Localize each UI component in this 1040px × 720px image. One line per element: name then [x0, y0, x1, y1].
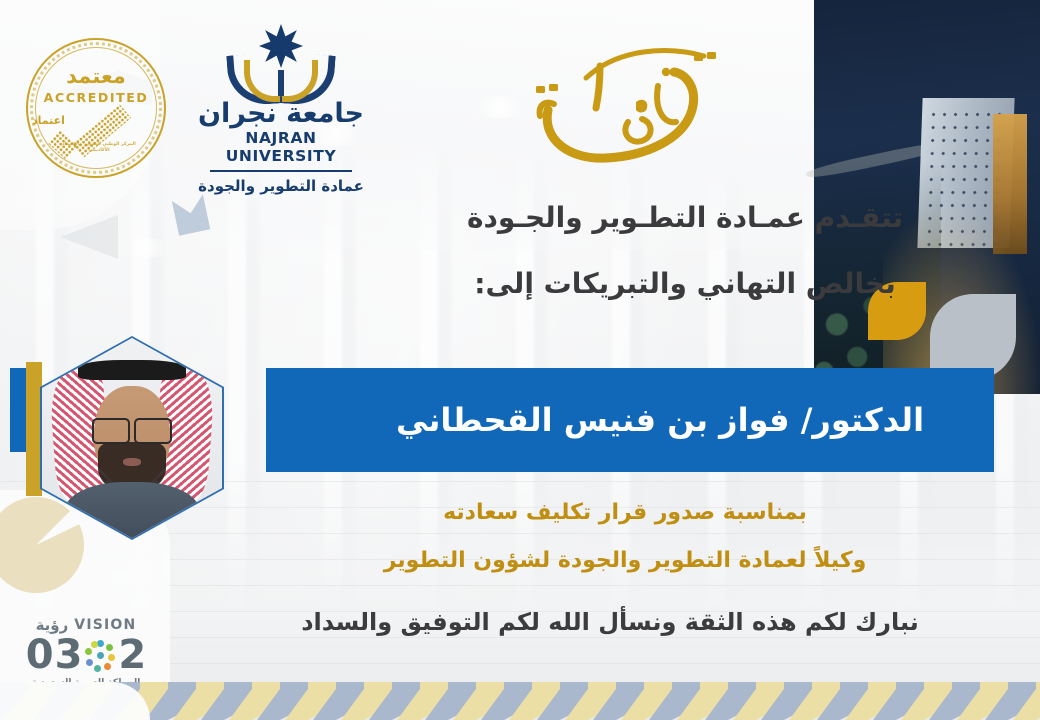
- saudi-emblem-icon: [84, 639, 116, 671]
- seal-authority-label: المركز الوطني للتقويم والاعتماد الأكاديم…: [60, 142, 138, 154]
- pattern-cell: [476, 682, 504, 720]
- decor-triangle-gray: [60, 215, 118, 259]
- pattern-cell: [392, 682, 420, 720]
- pattern-cell: [812, 682, 840, 720]
- body-line-2: وكيلاً لعمادة التطوير والجودة لشؤون التط…: [280, 548, 970, 574]
- tahniah-calligraphy: [508, 26, 758, 176]
- accreditation-seal: معتمد ACCREDITED اعتماد المركز الوطني لل…: [26, 38, 166, 178]
- pattern-left-mask: [0, 682, 150, 720]
- pattern-cell: [560, 682, 588, 720]
- pattern-cell: [756, 682, 784, 720]
- pattern-cell: [700, 682, 728, 720]
- pattern-cell: [868, 682, 896, 720]
- pattern-cell: [1008, 682, 1036, 720]
- pattern-cell: [952, 682, 980, 720]
- pattern-cell: [224, 682, 252, 720]
- najran-university-logo: جامعة نجران NAJRAN UNIVERSITY عمادة التط…: [196, 26, 366, 195]
- honoree-name-banner: الدكتور/ فواز بن فنيس القحطاني: [266, 368, 994, 472]
- headline-block: تتقـدم عمـادة التطـوير والجـودة بخالص ال…: [400, 198, 970, 304]
- ceiling-light-glow: [120, 238, 172, 258]
- pattern-cell: [672, 682, 700, 720]
- pattern-cell: [504, 682, 532, 720]
- campus-night-photo: [814, 0, 1040, 206]
- congratulations-card: معتمد ACCREDITED اعتماد المركز الوطني لل…: [0, 0, 1040, 720]
- vision-digit-3: 3: [55, 635, 83, 675]
- honoree-portrait: [30, 336, 210, 536]
- body-gold-block: بمناسبة صدور قرار تكليف سعادته وكيلاً لع…: [280, 500, 970, 575]
- university-name-english: NAJRAN UNIVERSITY: [196, 129, 366, 165]
- right-decorative-art: [814, 0, 1040, 394]
- logo-divider: [210, 170, 352, 172]
- pattern-cell: [532, 682, 560, 720]
- pattern-cell: [168, 682, 196, 720]
- pattern-cell: [588, 682, 616, 720]
- closing-line: نبارك لكم هذه الثقة ونسأل الله لكم التوف…: [250, 608, 970, 636]
- deanship-name: عمادة التطوير والجودة: [196, 177, 366, 195]
- portrait-hex-frame: [40, 336, 224, 540]
- vision-label-en: VISION: [74, 617, 136, 633]
- bottom-pattern-border: [0, 682, 1040, 720]
- pattern-cell: [644, 682, 672, 720]
- university-name-arabic: جامعة نجران: [196, 100, 366, 128]
- seal-etimad-label: اعتماد: [32, 114, 65, 127]
- pattern-cell: [980, 682, 1008, 720]
- pattern-cell: [616, 682, 644, 720]
- university-emblem-icon: [196, 26, 366, 98]
- vision-digit-2: 2: [118, 635, 146, 675]
- pattern-cell: [252, 682, 280, 720]
- seal-english-title: ACCREDITED: [26, 90, 166, 105]
- pattern-cell: [1036, 682, 1040, 720]
- portrait-image: [42, 338, 222, 538]
- pattern-cell: [336, 682, 364, 720]
- headline-line-1: تتقـدم عمـادة التطـوير والجـودة: [400, 198, 970, 238]
- pattern-cell: [728, 682, 756, 720]
- pattern-cell: [280, 682, 308, 720]
- pattern-cell: [924, 682, 952, 720]
- pattern-cell: [448, 682, 476, 720]
- honoree-name: الدكتور/ فواز بن فنيس القحطاني: [336, 401, 924, 439]
- pattern-cell: [420, 682, 448, 720]
- pattern-cell: [364, 682, 392, 720]
- vision-digit-0: 0: [26, 635, 54, 675]
- emblem-stem: [278, 70, 284, 96]
- pattern-cell: [896, 682, 924, 720]
- portrait-accent-gold: [26, 362, 42, 496]
- pattern-cell: [196, 682, 224, 720]
- body-line-1: بمناسبة صدور قرار تكليف سعادته: [280, 500, 970, 526]
- pattern-cell: [308, 682, 336, 720]
- seal-arabic-title: معتمد: [26, 64, 166, 88]
- headline-line-2: بخالص التهاني والتبريكات إلى:: [400, 264, 970, 304]
- pattern-cell: [840, 682, 868, 720]
- pattern-cell: [784, 682, 812, 720]
